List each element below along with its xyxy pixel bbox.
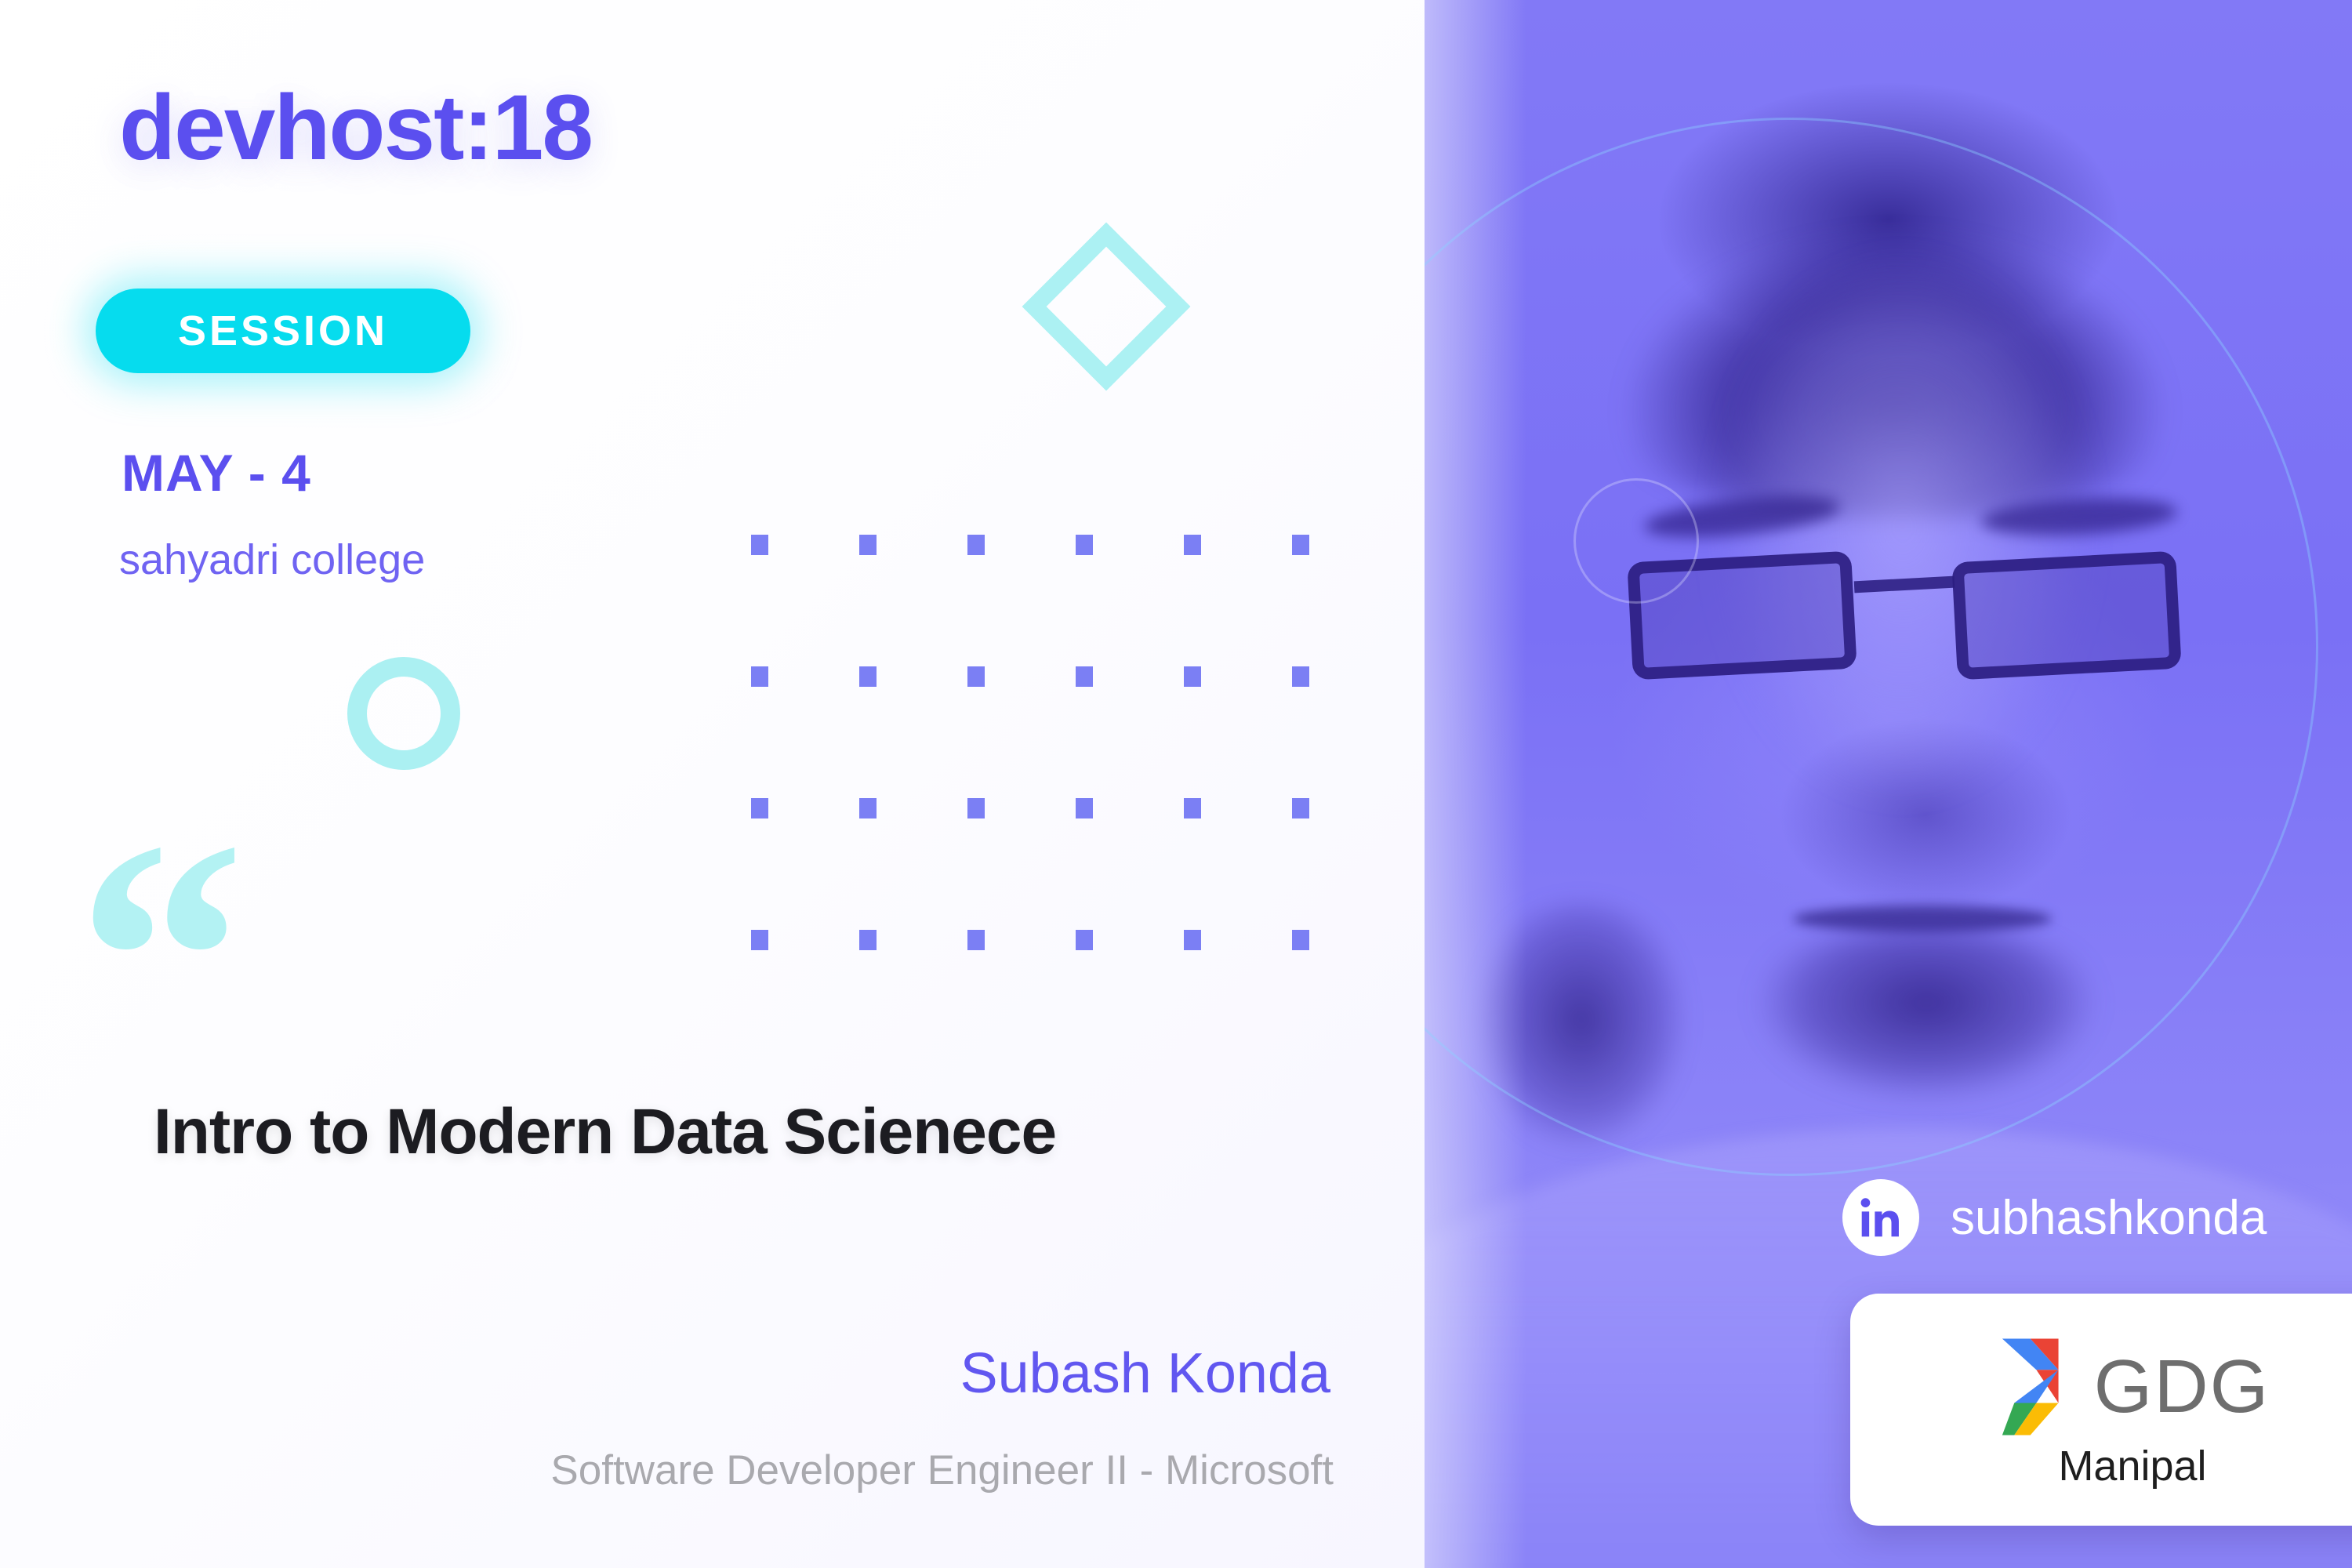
grid-dot [751,798,768,818]
grid-dot [1292,666,1309,687]
event-logo: devhost:18 [119,82,592,174]
grid-dot [1076,666,1093,687]
grid-dot [967,535,985,555]
session-badge: SESSION [96,289,470,373]
grid-dot [859,798,877,818]
grid-dot [859,930,877,950]
quotation-mark-icon: “ [77,790,245,1127]
gdg-chapter-name: Manipal [2058,1445,2206,1487]
session-badge-label: SESSION [178,307,388,355]
grid-dot [751,666,768,687]
glasses-bridge [1854,576,1955,593]
grid-dot [967,930,985,950]
grid-dot [967,798,985,818]
grid-dot [1184,666,1201,687]
poster-left-panel: devhost:18 SESSION MAY - 4 sahyadri coll… [0,0,1425,1568]
session-title: Intro to Modern Data Scienece [154,1095,1056,1169]
glasses-lens-right [1951,551,2181,681]
grid-dot [751,535,768,555]
grid-dot [859,535,877,555]
grid-dot [1076,798,1093,818]
grid-dot [1292,930,1309,950]
circle-outline-icon [347,657,460,770]
speaker-session-poster: devhost:18 SESSION MAY - 4 sahyadri coll… [0,0,2352,1568]
speaker-name: Subash Konda [960,1341,1330,1406]
grid-dot [859,666,877,687]
linkedin-icon[interactable] [1842,1179,1919,1256]
grid-dot [967,666,985,687]
event-venue: sahyadri college [119,535,425,584]
grid-dot [1184,535,1201,555]
grid-dot [1184,798,1201,818]
grid-dot [1184,930,1201,950]
grid-dot [751,930,768,950]
diamond-outline-icon [1022,223,1191,391]
event-date: MAY - 4 [122,443,311,503]
portrait-eyebrows-shape [1644,499,2177,554]
gdg-chevron-icon [1995,1337,2067,1437]
glasses-lens-left [1627,551,1857,681]
gdg-logo-row: GDG [1995,1337,2270,1437]
linkedin-handle-text: subhashkonda [1951,1190,2267,1246]
grid-dot [1076,930,1093,950]
grid-dot [1292,535,1309,555]
grid-dot [1292,798,1309,818]
grid-dot [1076,535,1093,555]
portrait-glasses-shape [1630,549,2179,690]
linkedin-handle-row[interactable]: subhashkonda [1842,1179,2267,1256]
portrait-edge-glow [1425,0,1526,1568]
gdg-organizer-card: GDG Manipal [1850,1294,2352,1526]
gdg-wordmark: GDG [2094,1349,2270,1425]
speaker-role: Software Developer Engineer II - Microso… [550,1446,1334,1494]
dot-grid-decoration [751,535,1400,1062]
